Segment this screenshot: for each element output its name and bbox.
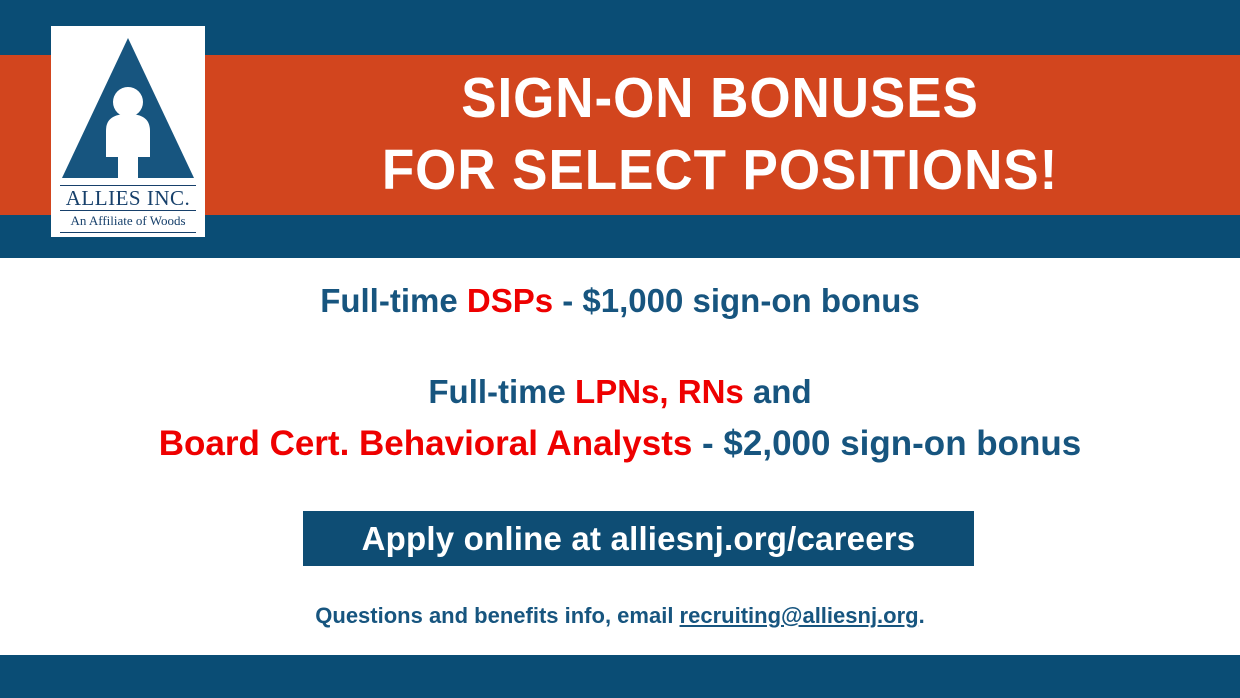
- offer-bcba-role: Board Cert. Behavioral Analysts: [159, 424, 693, 463]
- offer-dsp-prefix: Full-time: [320, 282, 467, 319]
- offer-dsp-role: DSPs: [467, 282, 553, 319]
- allies-logo-card: ALLIES INC. An Affiliate of Woods: [51, 26, 205, 237]
- offer-nurses-line-1: Full-time LPNs, RNs and: [0, 373, 1240, 411]
- allies-triangle-person-icon: [58, 32, 198, 184]
- body-area: Full-time DSPs - $1,000 sign-on bonus Fu…: [0, 258, 1240, 655]
- offer-bcba-amount: - $2,000 sign-on bonus: [692, 424, 1081, 463]
- headline: SIGN-ON BONUSES FOR SELECT POSITIONS!: [250, 62, 1189, 207]
- contact-note-prefix: Questions and benefits info, email: [315, 603, 679, 628]
- allies-wordmark: ALLIES INC. An Affiliate of Woods: [58, 185, 198, 233]
- top-banner: ALLIES INC. An Affiliate of Woods SIGN-O…: [0, 0, 1240, 258]
- logo-tagline: An Affiliate of Woods: [58, 211, 198, 232]
- wordmark-rule-bottom: [60, 232, 196, 233]
- recruiting-email-link[interactable]: recruiting@alliesnj.org: [680, 603, 919, 628]
- contact-note: Questions and benefits info, email recru…: [0, 603, 1240, 629]
- offer-nurses-role: LPNs, RNs: [575, 373, 744, 410]
- offer-nurses-prefix: Full-time: [428, 373, 575, 410]
- offer-dsp: Full-time DSPs - $1,000 sign-on bonus: [0, 282, 1240, 320]
- bottom-bar: [0, 655, 1240, 698]
- headline-line-1: SIGN-ON BONUSES: [250, 62, 1189, 134]
- headline-line-2: FOR SELECT POSITIONS!: [250, 134, 1189, 206]
- logo-company-name: ALLIES INC.: [58, 186, 198, 210]
- apply-online-label: Apply online at alliesnj.org/careers: [362, 520, 916, 558]
- offer-bcba-line-2: Board Cert. Behavioral Analysts - $2,000…: [0, 424, 1240, 464]
- contact-note-period: .: [919, 603, 925, 628]
- offer-nurses-conjunction: and: [744, 373, 812, 410]
- offer-dsp-amount: - $1,000 sign-on bonus: [553, 282, 920, 319]
- apply-online-button[interactable]: Apply online at alliesnj.org/careers: [303, 511, 974, 566]
